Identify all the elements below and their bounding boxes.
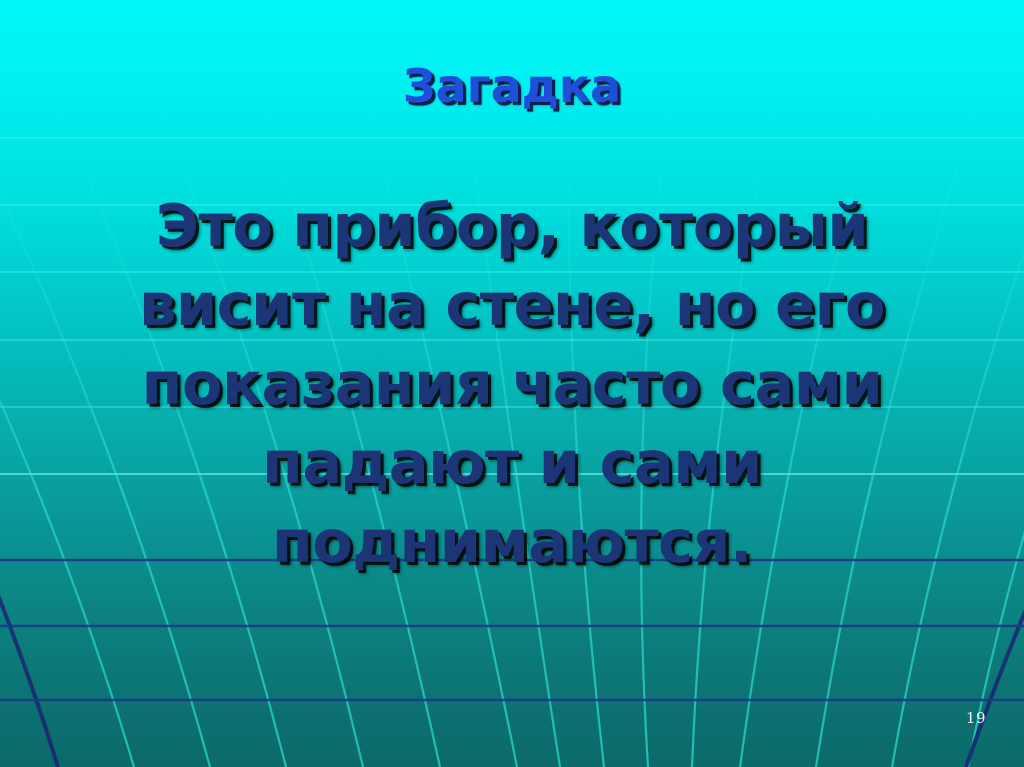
riddle-text-block: Это прибор, который висит на стене, но е… [0, 186, 1024, 581]
page-number: 19 [966, 709, 986, 727]
riddle-line-3: показания часто сами [0, 344, 1024, 423]
riddle-line-1: Это прибор, который [0, 186, 1024, 265]
latitude-lines-dark [0, 560, 1024, 700]
slide-title: Загадка [0, 62, 1024, 110]
riddle-line-2: висит на стене, но его [0, 265, 1024, 344]
riddle-line-5: поднимаются. [0, 502, 1024, 581]
slide: Загадка Это прибор, который висит на сте… [0, 0, 1024, 767]
riddle-line-4: падают и сами [0, 423, 1024, 502]
